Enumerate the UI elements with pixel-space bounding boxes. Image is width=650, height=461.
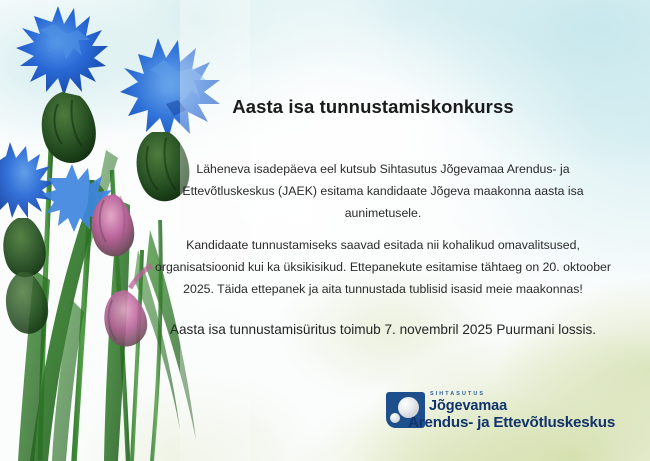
logo-primary-name: Jõgevamaa [429,398,615,414]
paragraph-event-details: Aasta isa tunnustamisüritus toimub 7. no… [150,319,616,342]
poster-canvas: Aasta isa tunnustamiskonkurss Läheneva i… [0,0,650,461]
jaek-logo: SIHTASUTUS Jõgevamaa Arendus- ja Ettevõt… [386,390,636,438]
paragraph-intro: Läheneva isadepäeva eel kutsub Sihtasutu… [150,158,616,224]
paragraph-nomination-details: Kandidaate tunnustamiseks saavad esitada… [150,234,616,300]
cornflower-head-top-left [16,6,108,96]
logo-secondary-name: Arendus- ja Ettevõtluskeskus [408,414,615,431]
logo-kicker-text: SIHTASUTUS [429,390,615,398]
cornflower-bud-3 [3,218,45,277]
page-title: Aasta isa tunnustamiskonkurss [150,96,596,118]
pink-bud [92,194,135,256]
logo-wordmark: SIHTASUTUS Jõgevamaa Arendus- ja Ettevõt… [429,390,615,431]
